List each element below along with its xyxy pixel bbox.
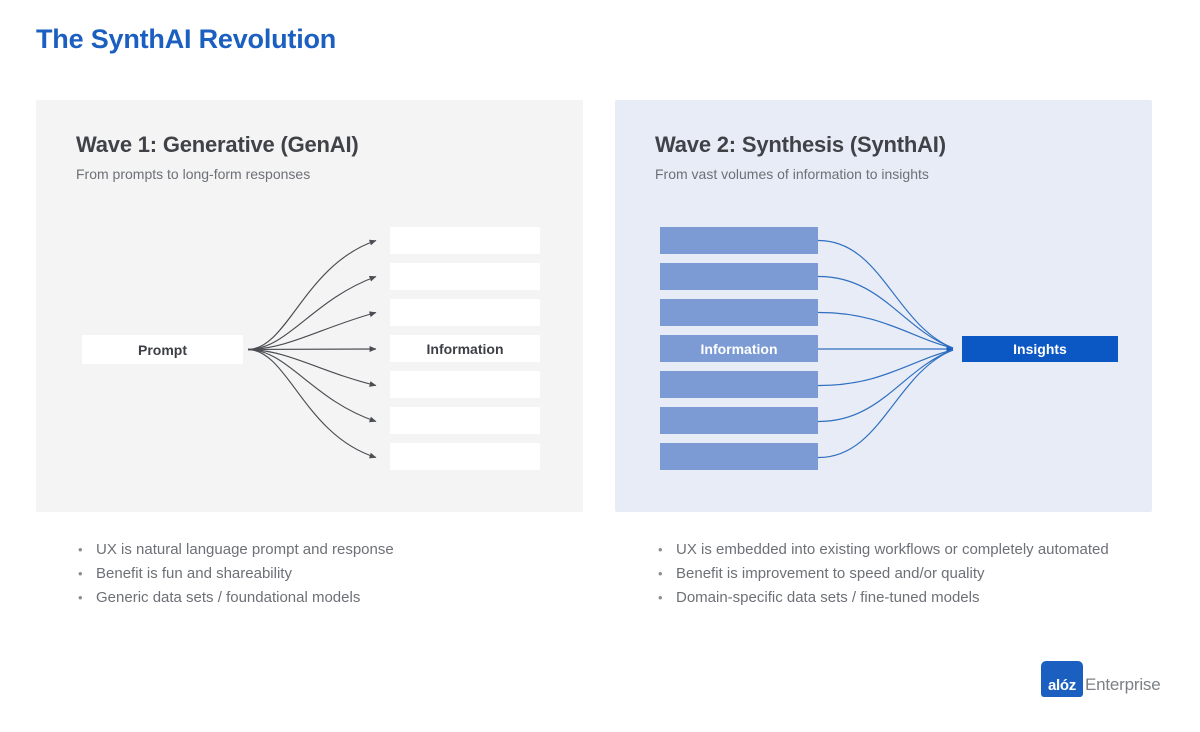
- list-item: UX is natural language prompt and respon…: [76, 538, 556, 562]
- response-bar: [390, 407, 540, 434]
- logo-wordmark: Enterprise: [1083, 675, 1160, 697]
- list-item: Benefit is improvement to speed and/or q…: [656, 562, 1156, 586]
- information-bar: [660, 227, 818, 254]
- response-bar: [390, 371, 540, 398]
- information-bar: [660, 371, 818, 398]
- panel-wave1: Wave 1: Generative (GenAI) From prompts …: [36, 100, 583, 512]
- panel-wave1-subtitle: From prompts to long-form responses: [76, 166, 310, 182]
- list-item: Generic data sets / foundational models: [76, 586, 556, 610]
- response-bar: [390, 263, 540, 290]
- page-title: The SynthAI Revolution: [36, 24, 336, 55]
- response-bar: [390, 443, 540, 470]
- brand-logo: alóz Enterprise: [1041, 661, 1160, 697]
- information-bar: [660, 263, 818, 290]
- logo-mark-text: alóz: [1048, 677, 1076, 697]
- bullet-list-wave1: UX is natural language prompt and respon…: [76, 538, 556, 610]
- logo-mark-icon: alóz: [1041, 661, 1083, 697]
- panel-wave1-heading: Wave 1: Generative (GenAI): [76, 132, 359, 158]
- bullet-list-wave2: UX is embedded into existing workflows o…: [656, 538, 1156, 610]
- information-bar: [660, 407, 818, 434]
- response-bar: [390, 227, 540, 254]
- panel-wave2-heading: Wave 2: Synthesis (SynthAI): [655, 132, 946, 158]
- information-bar-labeled: Information: [660, 335, 818, 362]
- list-item: UX is embedded into existing workflows o…: [656, 538, 1156, 562]
- list-item: Benefit is fun and shareability: [76, 562, 556, 586]
- insights-box: Insights: [962, 336, 1118, 362]
- response-bar-information: Information: [390, 335, 540, 362]
- response-bar: [390, 299, 540, 326]
- prompt-box: Prompt: [82, 335, 243, 364]
- panel-wave2: Wave 2: Synthesis (SynthAI) From vast vo…: [615, 100, 1152, 512]
- information-bar: [660, 299, 818, 326]
- panel-wave2-subtitle: From vast volumes of information to insi…: [655, 166, 929, 182]
- information-bar: [660, 443, 818, 470]
- list-item: Domain-specific data sets / fine-tuned m…: [656, 586, 1156, 610]
